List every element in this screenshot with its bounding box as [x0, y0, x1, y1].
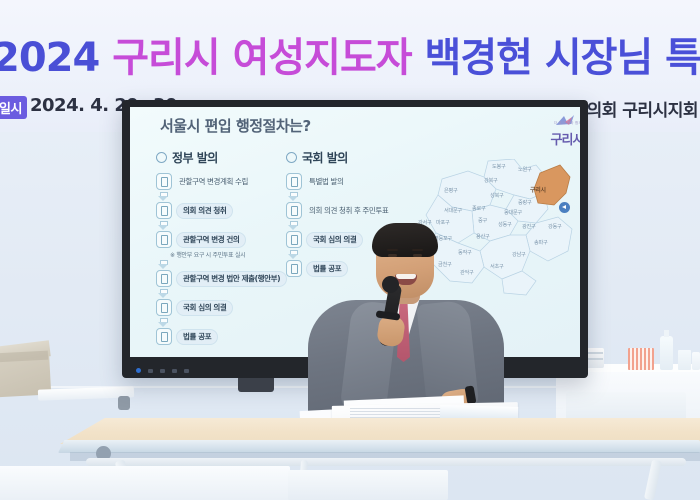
eyebrow-left	[387, 249, 398, 251]
display-button[interactable]	[160, 369, 165, 373]
display-button[interactable]	[148, 369, 153, 373]
flow-step: 의회 의견 청취	[156, 202, 288, 219]
map-label: 송파구	[534, 239, 547, 246]
down-arrow-icon	[288, 250, 299, 259]
map-label: 노원구	[518, 166, 531, 173]
map-label: 도봉구	[492, 163, 505, 170]
flow-step-label: 관할구역 변경 법안 제출(행안부)	[176, 271, 287, 287]
banner-subject: 구리시 여성지도자	[99, 35, 424, 81]
flow-note: ※ 행안부 요구 시 주민투표 실시	[170, 250, 288, 259]
banner-year: 2024	[0, 35, 99, 81]
water-bottle	[660, 336, 673, 370]
flow-step: 관할구역 변경계획 수립	[156, 173, 288, 190]
flow-step: 의회 의견 청취 후 주민투표	[286, 202, 426, 219]
desk-rail	[86, 458, 686, 466]
down-arrow-icon	[158, 318, 169, 327]
microphone-head-icon	[382, 276, 399, 293]
map-label: 중랑구	[518, 199, 531, 206]
banner-title: 2024 구리시 여성지도자 백경현 시장님 특강	[0, 30, 700, 86]
proposal-icon	[156, 231, 172, 248]
flow-step-label: 관할구역 변경 건의	[176, 232, 246, 248]
flow-step-label: 특별법 발의	[306, 175, 346, 189]
flow-step: 관할구역 변경 건의	[156, 231, 288, 248]
column-heading: 정부 발의	[172, 149, 218, 166]
orange-striped-box	[628, 348, 654, 370]
drinking-glass	[678, 350, 691, 370]
chair-back	[566, 392, 686, 422]
display-controls[interactable]	[136, 368, 189, 373]
photo-scene: 2024 구리시 여성지도자 백경현 시장님 특강 일시 2024. 4. 29…	[0, 0, 700, 500]
column-heading-row: 국회 발의	[286, 149, 426, 166]
flow-step-label: 국회 심의 의결	[176, 300, 233, 316]
flow-column-government: 정부 발의 관할구역 변경계획 수립 의회 의견 청취 관할구역 변경 건의 ※…	[156, 149, 288, 347]
map-label: 성북구	[490, 192, 503, 199]
map-label: 성동구	[498, 221, 511, 228]
front-table-panel	[0, 466, 290, 500]
map-label: 강동구	[548, 223, 561, 230]
display-button[interactable]	[172, 369, 177, 373]
organizer-label: 의회 구리시지회	[587, 96, 698, 121]
speaker-person	[300, 228, 510, 418]
map-label: 마포구	[436, 219, 449, 226]
promulgation-icon	[156, 328, 172, 345]
front-table-panel	[288, 470, 448, 500]
eye-right	[413, 254, 422, 257]
slide-title: 서울시 편입 행정절차는?	[160, 115, 311, 136]
hand-icon	[156, 202, 172, 219]
map-label: 은평구	[444, 187, 457, 194]
date-badge: 일시	[0, 96, 27, 119]
flow-step: 법률 공포	[156, 328, 288, 345]
assembly-icon	[156, 299, 172, 316]
document-icon	[156, 173, 172, 190]
guri-city-logo: 더 좋은 변화 함께 만들어요 구리시	[536, 113, 580, 149]
map-label-guri: 구리시	[530, 185, 546, 194]
banner-speaker: 백경현 시장님 특강	[425, 35, 700, 81]
flow-step-label: 법률 공포	[176, 329, 218, 345]
map-label: 강남구	[512, 251, 525, 258]
map-label: 강북구	[484, 177, 497, 184]
radio-icon	[286, 152, 297, 163]
logo-wordmark: 구리시	[536, 129, 580, 148]
down-arrow-icon	[158, 192, 169, 201]
down-arrow-icon	[288, 192, 299, 201]
column-heading-row: 정부 발의	[156, 149, 288, 166]
map-label: 동대문구	[504, 209, 522, 216]
side-shelf-leg	[118, 396, 130, 410]
ballot-icon	[286, 202, 302, 219]
map-pointer-icon	[559, 202, 570, 213]
column-heading: 국회 발의	[302, 149, 348, 166]
map-label: 서대문구	[444, 207, 462, 214]
document-icon	[286, 173, 302, 190]
hair	[372, 223, 438, 257]
logo-subtext: 더 좋은 변화 함께 만들어요	[554, 121, 580, 126]
flow-step: 특별법 발의	[286, 173, 426, 190]
radio-icon	[156, 152, 167, 163]
eye-left	[388, 254, 397, 257]
flow-step-label: 의회 의견 청취	[176, 203, 233, 219]
down-arrow-icon	[158, 260, 169, 269]
down-arrow-icon	[158, 289, 169, 298]
display-stand	[238, 378, 274, 392]
small-jar	[692, 352, 700, 370]
bill-icon	[156, 270, 172, 287]
map-label: 중구	[478, 217, 487, 224]
power-led-icon	[136, 368, 141, 373]
flow-step: 국회 심의 의결	[156, 299, 288, 316]
map-label: 종로구	[472, 205, 485, 212]
down-arrow-icon	[158, 221, 169, 230]
eyebrow-right	[412, 249, 423, 251]
flow-step-label: 관할구역 변경계획 수립	[176, 175, 251, 189]
teeth	[396, 274, 416, 279]
flow-step: 관할구역 변경 법안 제출(행안부)	[156, 270, 288, 287]
map-label: 광진구	[522, 223, 535, 230]
flow-step-label: 의회 의견 청취 후 주민투표	[306, 204, 391, 218]
down-arrow-icon	[288, 221, 299, 230]
display-button[interactable]	[184, 369, 189, 373]
